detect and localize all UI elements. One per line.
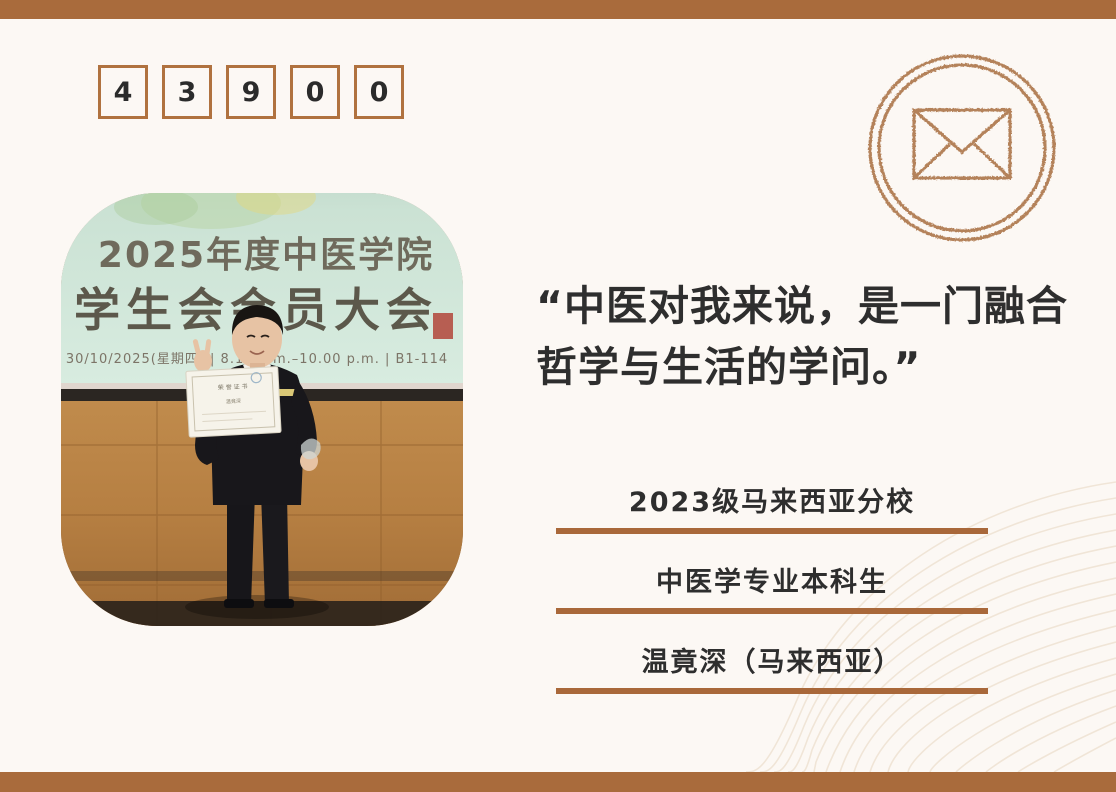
envelope-in-circle-icon <box>862 48 1062 248</box>
envelope-stamp <box>862 48 1062 248</box>
credit-entry: 2023级马来西亚分校 <box>556 480 988 534</box>
credit-line-major: 中医学专业本科生 <box>556 560 988 608</box>
code-digit-box: 0 <box>354 65 404 119</box>
code-digit-box: 3 <box>162 65 212 119</box>
credit-entry: 中医学专业本科生 <box>556 560 988 614</box>
credit-entry: 温竟深（马来西亚） <box>556 640 988 694</box>
svg-text:温竟深: 温竟深 <box>226 397 241 405</box>
credit-rule <box>556 608 988 614</box>
code-digit-row: 4 3 9 0 0 <box>98 65 404 119</box>
svg-text:2025年度中医学院: 2025年度中医学院 <box>98 234 434 276</box>
award-ceremony-photo: 2025年度中医学院 学生会会员大会 30/10/2025(星期四) | 8.1… <box>61 193 463 626</box>
credit-rule <box>556 688 988 694</box>
bottom-accent-bar <box>0 772 1116 792</box>
credit-line-class: 2023级马来西亚分校 <box>556 480 988 528</box>
code-digit-box: 9 <box>226 65 276 119</box>
photo-content: 2025年度中医学院 学生会会员大会 30/10/2025(星期四) | 8.1… <box>61 193 463 626</box>
poster-canvas: 4 3 9 0 0 <box>0 0 1116 792</box>
top-accent-bar <box>0 0 1116 19</box>
credit-rule <box>556 528 988 534</box>
svg-text:荣 誉 证 书: 荣 誉 证 书 <box>218 382 248 392</box>
code-digit-box: 0 <box>290 65 340 119</box>
quote-text: “中医对我来说，是一门融合哲学与生活的学问。” <box>536 276 1076 397</box>
code-digit-box: 4 <box>98 65 148 119</box>
credits-block: 2023级马来西亚分校 中医学专业本科生 温竟深（马来西亚） <box>556 480 988 694</box>
credit-line-name: 温竟深（马来西亚） <box>556 640 988 688</box>
